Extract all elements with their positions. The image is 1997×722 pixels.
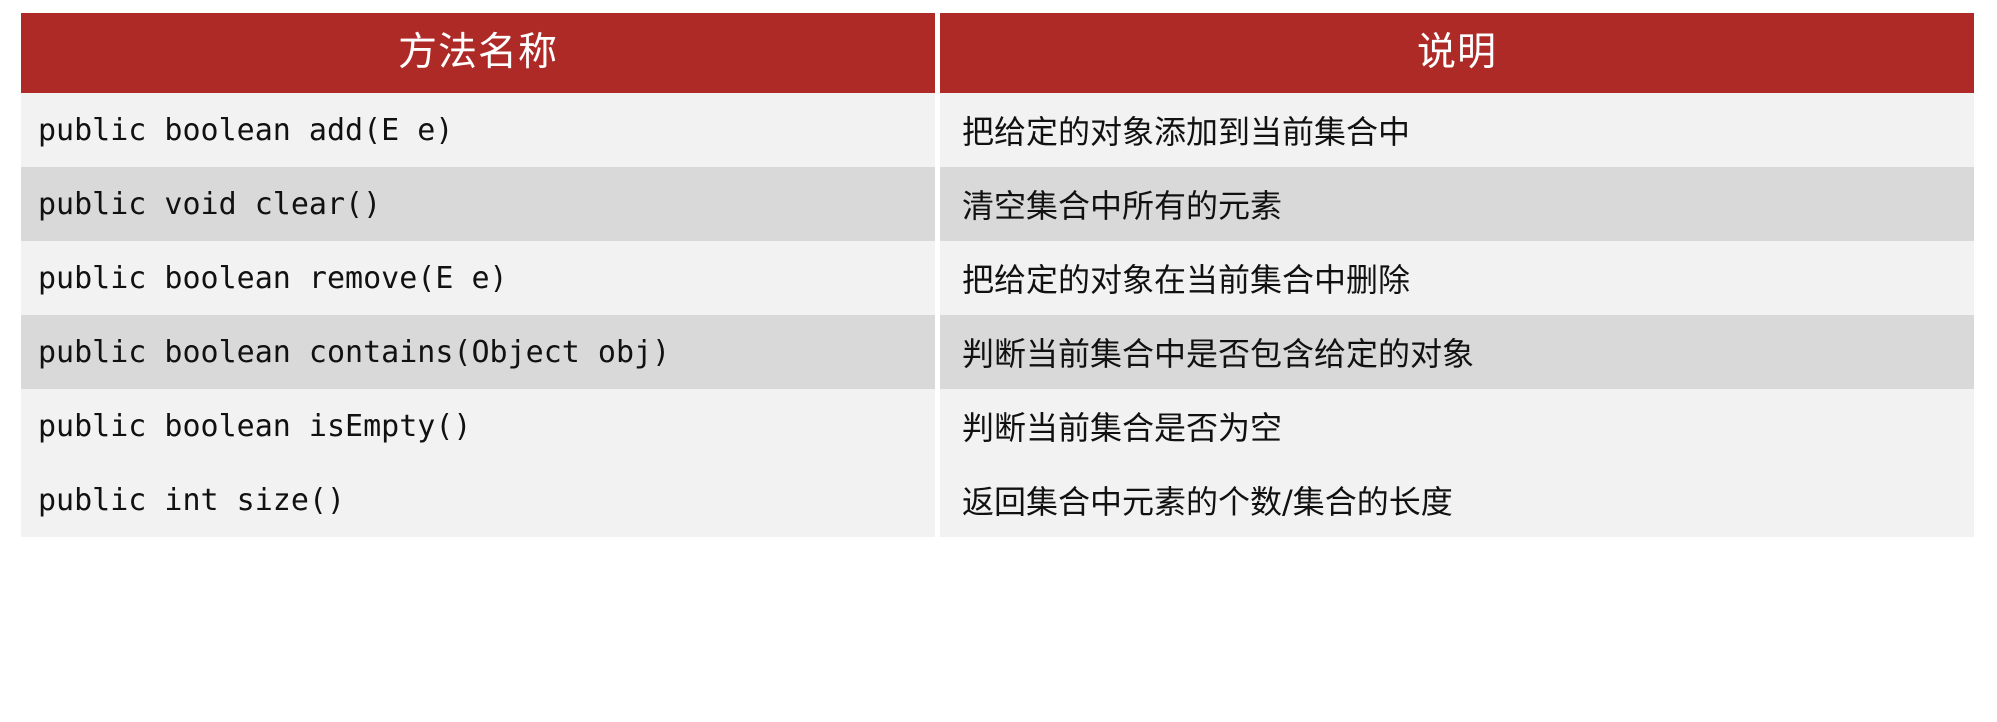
table-row: public void clear() 清空集合中所有的元素 [21,167,1974,241]
table-row: public boolean contains(Object obj) 判断当前… [21,315,1974,389]
cell-description: 把给定的对象添加到当前集合中 [940,93,1974,167]
api-method-table: 方法名称 说明 public boolean add(E e) 把给定的对象添加… [21,13,1974,537]
cell-description: 判断当前集合是否为空 [940,389,1974,463]
cell-method: public void clear() [21,167,935,241]
cell-method: public boolean isEmpty() [21,389,935,463]
table-row: public boolean add(E e) 把给定的对象添加到当前集合中 [21,93,1974,167]
cell-description: 返回集合中元素的个数/集合的长度 [940,463,1974,537]
table-body: public boolean add(E e) 把给定的对象添加到当前集合中 p… [21,93,1974,537]
column-header-method: 方法名称 [21,13,935,93]
cell-method: public boolean add(E e) [21,93,935,167]
api-method-table-container: 方法名称 说明 public boolean add(E e) 把给定的对象添加… [21,13,1974,690]
column-header-description: 说明 [940,13,1974,93]
cell-description: 判断当前集合中是否包含给定的对象 [940,315,1974,389]
table-row: public boolean remove(E e) 把给定的对象在当前集合中删… [21,241,1974,315]
table-row: public int size() 返回集合中元素的个数/集合的长度 [21,463,1974,537]
table-header-row: 方法名称 说明 [21,13,1974,93]
table-row: public boolean isEmpty() 判断当前集合是否为空 [21,389,1974,463]
cell-description: 清空集合中所有的元素 [940,167,1974,241]
table-header: 方法名称 说明 [21,13,1974,93]
cell-method: public boolean contains(Object obj) [21,315,935,389]
cell-method: public boolean remove(E e) [21,241,935,315]
cell-description: 把给定的对象在当前集合中删除 [940,241,1974,315]
cell-method: public int size() [21,463,935,537]
